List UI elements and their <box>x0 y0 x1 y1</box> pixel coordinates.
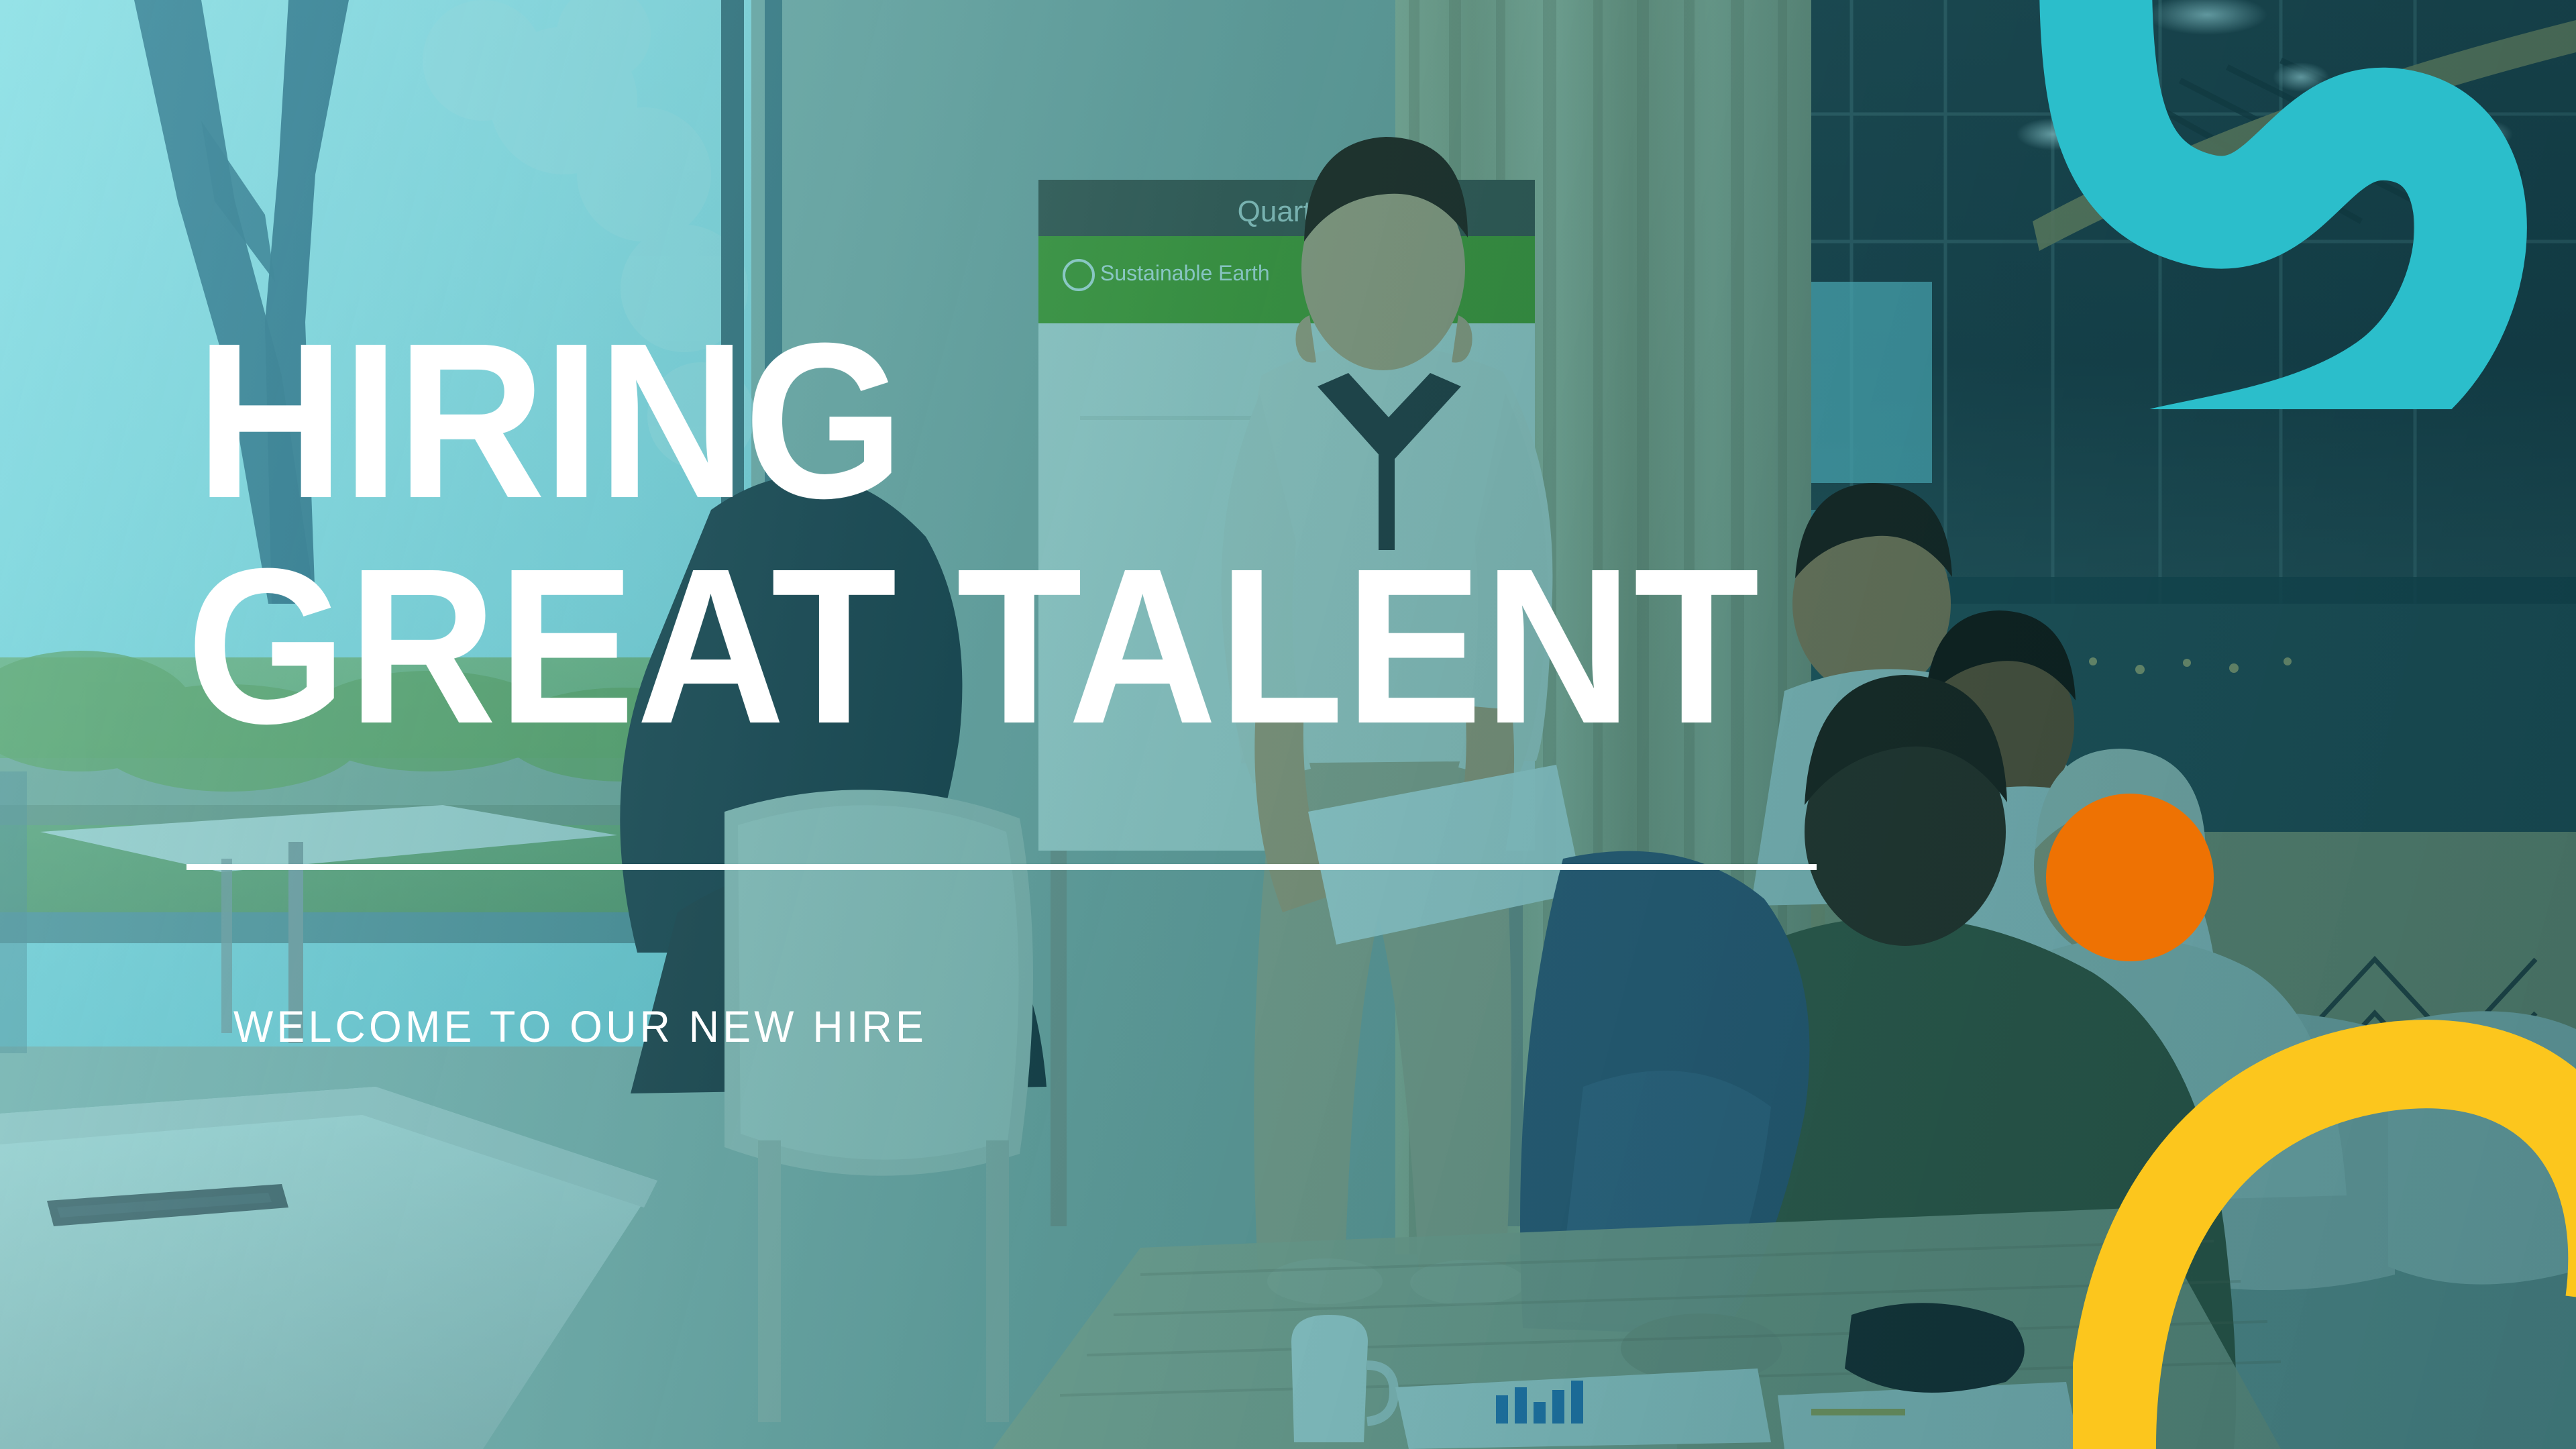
subtitle-text: WELCOME TO OUR NEW HIRE <box>233 1001 927 1052</box>
poster-canvas: Quartet Sustainable Earth <box>0 0 2576 1449</box>
orange-circle-icon <box>2046 794 2214 961</box>
headline-block: HIRING GREAT TALENT <box>186 315 1931 751</box>
headline-line-1: HIRING <box>196 315 1809 526</box>
yellow-arc-icon <box>2073 1020 2576 1449</box>
teal-wave-squiggle-icon <box>1878 0 2576 409</box>
headline-line-2: GREAT TALENT <box>186 541 1809 751</box>
divider-rule <box>186 864 1817 870</box>
